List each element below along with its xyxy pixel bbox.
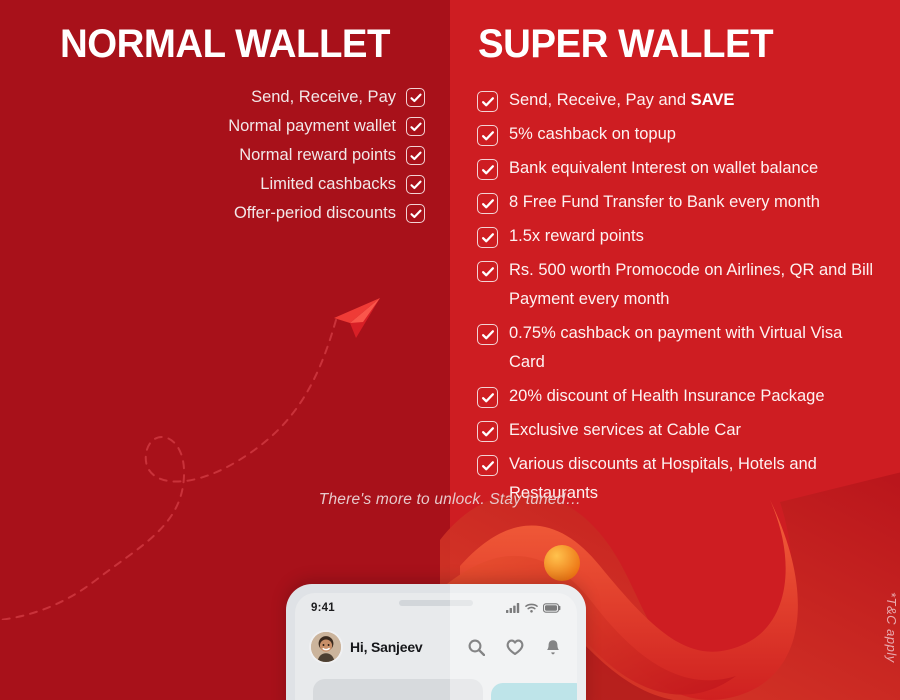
feature-label: Rs. 500 worth Promocode on Airlines, QR …	[509, 256, 877, 314]
list-item: Send, Receive, Pay	[30, 86, 425, 109]
feature-label: Send, Receive, Pay	[251, 86, 396, 109]
bell-icon[interactable]	[545, 639, 561, 656]
checkbox-checked-icon	[406, 117, 425, 136]
feature-label: Offer-period discounts	[234, 202, 396, 225]
phone-mockup: 9:41	[286, 584, 586, 700]
list-item: Limited cashbacks	[30, 173, 425, 196]
list-item: 5% cashback on topup	[477, 120, 877, 149]
list-item: 0.75% cashback on payment with Virtual V…	[477, 319, 877, 377]
list-item: Rs. 500 worth Promocode on Airlines, QR …	[477, 256, 877, 314]
battery-icon	[543, 603, 561, 613]
list-item: 20% discount of Health Insurance Package	[477, 382, 877, 411]
checkbox-checked-icon	[477, 91, 498, 112]
checkbox-checked-icon	[477, 324, 498, 345]
right-panel-heading: SUPER WALLET	[478, 18, 773, 70]
feature-label: 1.5x reward points	[509, 222, 644, 251]
feature-label: 5% cashback on topup	[509, 120, 676, 149]
app-card-primary[interactable]	[313, 679, 483, 700]
wifi-icon	[525, 603, 538, 613]
feature-label: Normal payment wallet	[228, 115, 396, 138]
list-item: Offer-period discounts	[30, 202, 425, 225]
app-header-row: Hi, Sanjeev	[295, 627, 577, 667]
checkbox-checked-icon	[477, 227, 498, 248]
feature-label: 20% discount of Health Insurance Package	[509, 382, 825, 411]
checkbox-checked-icon	[477, 159, 498, 180]
list-item: 1.5x reward points	[477, 222, 877, 251]
feature-label: 0.75% cashback on payment with Virtual V…	[509, 319, 877, 377]
tagline: There's more to unlock. Stay tuned…	[0, 491, 900, 509]
checkbox-checked-icon	[477, 261, 498, 282]
checkbox-checked-icon	[406, 175, 425, 194]
promo-poster: NORMAL WALLET SUPER WALLET Send, Receive…	[0, 0, 900, 700]
avatar[interactable]	[311, 632, 341, 662]
checkbox-checked-icon	[477, 125, 498, 146]
app-action-icons	[468, 639, 561, 656]
checkbox-checked-icon	[477, 387, 498, 408]
list-item: Normal payment wallet	[30, 115, 425, 138]
app-card-secondary[interactable]	[491, 683, 577, 700]
checkbox-checked-icon	[406, 146, 425, 165]
feature-label: Bank equivalent Interest on wallet balan…	[509, 154, 818, 183]
list-item: Exclusive services at Cable Car	[477, 416, 877, 445]
list-item: 8 Free Fund Transfer to Bank every month	[477, 188, 877, 217]
phone-status-bar: 9:41	[295, 599, 577, 617]
feature-label: Send, Receive, Pay and SAVE	[509, 86, 734, 115]
left-panel-heading: NORMAL WALLET	[9, 18, 441, 70]
heart-icon[interactable]	[506, 639, 524, 655]
feature-label: Limited cashbacks	[260, 173, 396, 196]
signal-icon	[506, 603, 520, 613]
checkbox-checked-icon	[406, 204, 425, 223]
list-item: Bank equivalent Interest on wallet balan…	[477, 154, 877, 183]
checkbox-checked-icon	[477, 421, 498, 442]
checkbox-checked-icon	[406, 88, 425, 107]
status-icons	[506, 603, 561, 613]
user-block[interactable]: Hi, Sanjeev	[311, 632, 423, 662]
feature-label: Normal reward points	[239, 144, 396, 167]
feature-label: Exclusive services at Cable Car	[509, 416, 741, 445]
super-wallet-feature-list: Send, Receive, Pay and SAVE 5% cashback …	[477, 86, 877, 513]
checkbox-checked-icon	[477, 193, 498, 214]
list-item: Send, Receive, Pay and SAVE	[477, 86, 877, 115]
list-item: Normal reward points	[30, 144, 425, 167]
phone-screen: 9:41	[295, 593, 577, 700]
normal-wallet-feature-list: Send, Receive, Pay Normal payment wallet…	[30, 86, 425, 231]
checkbox-checked-icon	[477, 455, 498, 476]
feature-label: 8 Free Fund Transfer to Bank every month	[509, 188, 820, 217]
status-time: 9:41	[311, 602, 335, 614]
search-icon[interactable]	[468, 639, 485, 656]
terms-note: *T&C apply	[884, 592, 899, 663]
greeting-text: Hi, Sanjeev	[350, 639, 423, 655]
